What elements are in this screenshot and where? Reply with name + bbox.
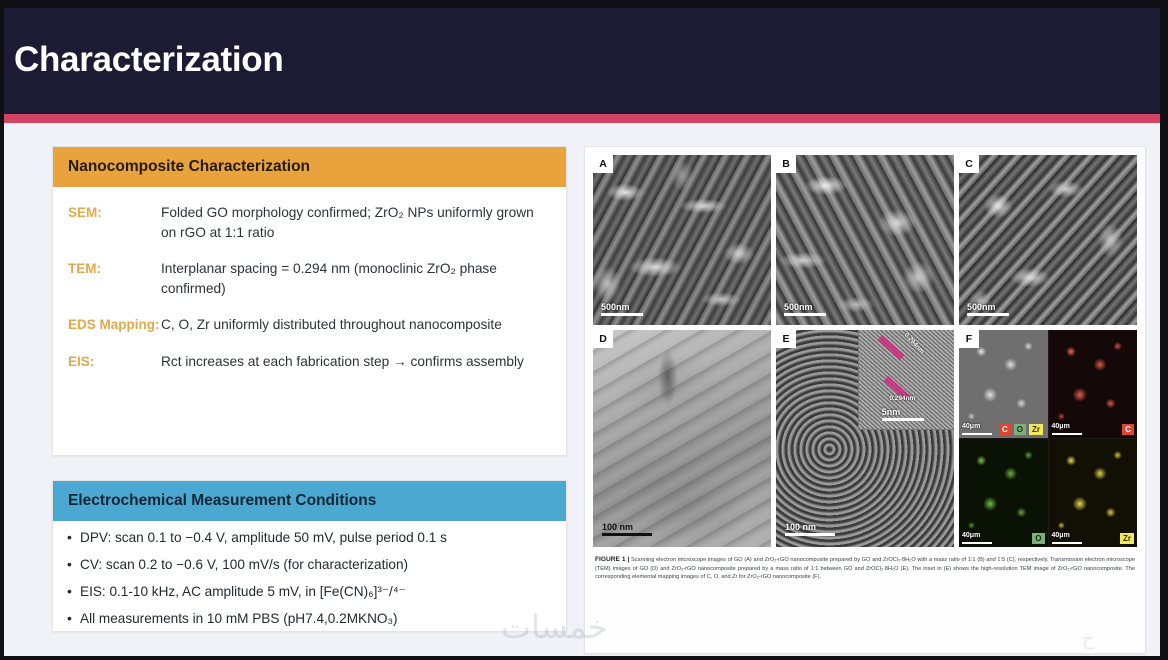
eds-quadrant-grid: 40μm C O Zr xyxy=(959,330,1137,547)
scalebar-f-zirconium: 40μm xyxy=(1052,531,1082,544)
scalebar-e-label: 100 nm xyxy=(785,522,816,532)
nanocomposite-card-title: Nanocomposite Characterization xyxy=(68,158,310,176)
eds-quadrant-oxygen: 40μm O xyxy=(959,439,1048,547)
eds-tag-carbon: C xyxy=(999,424,1011,435)
characterization-row-eis: EIS: Rct increases at each fabrication s… xyxy=(68,352,548,372)
scalebar-f-carbon-label: 40μm xyxy=(1052,423,1070,430)
inset-spacing-label-2: 0.294nm xyxy=(889,395,915,402)
term-eis: EIS: xyxy=(68,352,161,372)
scalebar-a-label: 500nm xyxy=(601,302,630,312)
scalebar-f-oxygen: 40μm xyxy=(962,531,992,544)
slide: Characterization Nanocomposite Character… xyxy=(4,8,1160,656)
figure-caption-label: FIGURE 1 | xyxy=(595,556,629,563)
electrochemical-card-header: Electrochemical Measurement Conditions xyxy=(53,481,566,521)
scalebar-f-composite: 40μm xyxy=(962,422,992,435)
scalebar-d-bar xyxy=(602,533,652,536)
eds-element-tag-row: C O Zr xyxy=(999,424,1043,435)
panel-letter-d: D xyxy=(593,330,613,348)
scalebar-c-bar xyxy=(967,313,1009,316)
panel-e-hrtem-inset: 0.294nm 0.294nm 5nm xyxy=(858,330,954,430)
bullet-cv: CV: scan 0.2 to −0.6 V, 100 mV/s (for ch… xyxy=(67,557,556,573)
electrochemical-card: Electrochemical Measurement Conditions D… xyxy=(52,480,567,632)
characterization-row-tem: TEM: Interplanar spacing = 0.294 nm (mon… xyxy=(68,259,548,298)
scalebar-c: 500nm xyxy=(967,302,1009,316)
panel-letter-c: C xyxy=(959,155,979,173)
eds-label-oxygen: O xyxy=(1032,533,1044,544)
nanocomposite-card: Nanocomposite Characterization SEM: Fold… xyxy=(52,146,567,456)
accent-divider xyxy=(4,114,1160,123)
panel-b-sem-1to1: B 500nm xyxy=(776,155,954,325)
characterization-row-sem: SEM: Folded GO morphology confirmed; ZrO… xyxy=(68,203,548,242)
panel-d-tem-go: D 100 nm xyxy=(593,330,771,547)
watermark-secondary: خ xyxy=(1082,628,1094,650)
scalebar-d-label: 100 nm xyxy=(602,522,633,532)
panel-letter-f: F xyxy=(959,330,979,348)
eds-label-zirconium: Zr xyxy=(1120,533,1134,544)
lattice-fringe-icon xyxy=(878,335,905,360)
scalebar-f-composite-bar xyxy=(962,433,992,435)
scalebar-f-zirconium-bar xyxy=(1052,542,1082,544)
scalebar-e: 100 nm xyxy=(785,522,835,536)
characterization-row-eds: EDS Mapping: C, O, Zr uniformly distribu… xyxy=(68,315,548,335)
desc-sem: Folded GO morphology confirmed; ZrO₂ NPs… xyxy=(161,203,548,242)
eds-tag-zirconium: Zr xyxy=(1029,424,1043,435)
bullet-dpv: DPV: scan 0.1 to −0.4 V, amplitude 50 mV… xyxy=(67,530,556,546)
scalebar-a-bar xyxy=(601,313,643,316)
figure-caption: FIGURE 1 | Scanning electron microscope … xyxy=(593,556,1137,582)
term-tem: TEM: xyxy=(68,259,161,298)
eds-quadrant-zirconium: 40μm Zr xyxy=(1049,439,1138,547)
nanocomposite-card-header: Nanocomposite Characterization xyxy=(53,147,566,187)
scalebar-a: 500nm xyxy=(601,302,643,316)
nanocomposite-card-body: SEM: Folded GO morphology confirmed; ZrO… xyxy=(53,187,566,381)
panel-letter-b: B xyxy=(776,155,796,173)
scalebar-e-inset-label: 5nm xyxy=(882,407,901,417)
scalebar-f-oxygen-label: 40μm xyxy=(962,532,980,539)
desc-tem: Interplanar spacing = 0.294 nm (monoclin… xyxy=(161,259,548,298)
scalebar-e-inset: 5nm xyxy=(882,407,924,421)
scalebar-f-composite-label: 40μm xyxy=(962,423,980,430)
desc-eds-mapping: C, O, Zr uniformly distributed throughou… xyxy=(161,315,548,335)
panel-a-sem-go: A 500nm xyxy=(593,155,771,325)
scalebar-f-oxygen-bar xyxy=(962,542,992,544)
scalebar-c-label: 500nm xyxy=(967,302,996,312)
scalebar-f-zirconium-label: 40μm xyxy=(1052,532,1070,539)
eds-label-carbon: C xyxy=(1122,424,1134,435)
screen: Characterization Nanocomposite Character… xyxy=(0,0,1168,660)
page-title: Characterization xyxy=(14,40,283,80)
figure-panel-grid: A 500nm B 500nm xyxy=(593,155,1137,547)
scalebar-b-label: 500nm xyxy=(784,302,813,312)
scalebar-e-bar xyxy=(785,533,835,536)
eds-tag-oxygen: O xyxy=(1014,424,1026,435)
scalebar-b-bar xyxy=(784,313,826,316)
electrochemical-card-title: Electrochemical Measurement Conditions xyxy=(68,492,376,510)
scalebar-f-carbon-bar xyxy=(1052,433,1082,435)
inset-spacing-label-1: 0.294nm xyxy=(902,331,925,355)
panel-letter-e: E xyxy=(776,330,796,348)
scalebar-e-inset-bar xyxy=(882,418,924,421)
scalebar-b: 500nm xyxy=(784,302,826,316)
eds-quadrant-carbon: 40μm C xyxy=(1049,330,1138,438)
scalebar-f-carbon: 40μm xyxy=(1052,422,1082,435)
bullet-eis: EIS: 0.1-10 kHz, AC amplitude 5 mV, in [… xyxy=(67,584,556,600)
bullet-measurements: All measurements in 10 mM PBS (pH7.4,0.2… xyxy=(67,611,556,627)
panel-e-tem-nanocomposite: E 0.294nm 0.294nm 5nm 100 xyxy=(776,330,954,547)
desc-eis: Rct increases at each fabrication step →… xyxy=(161,352,548,372)
panel-c-sem-1to5: C 500nm xyxy=(959,155,1137,325)
slide-content: Nanocomposite Characterization SEM: Fold… xyxy=(4,123,1160,656)
panel-f-eds-mapping: 40μm C O Zr xyxy=(959,330,1137,547)
title-banner: Characterization xyxy=(4,8,1160,114)
electrochemical-bullet-list: DPV: scan 0.1 to −0.4 V, amplitude 50 mV… xyxy=(53,521,566,635)
figure-card: A 500nm B 500nm xyxy=(584,146,1146,654)
scalebar-d: 100 nm xyxy=(602,522,652,536)
term-sem: SEM: xyxy=(68,203,161,242)
panel-letter-a: A xyxy=(593,155,613,173)
term-eds-mapping: EDS Mapping: xyxy=(68,315,161,335)
figure-caption-text: Scanning electron microscope images of G… xyxy=(595,557,1135,580)
